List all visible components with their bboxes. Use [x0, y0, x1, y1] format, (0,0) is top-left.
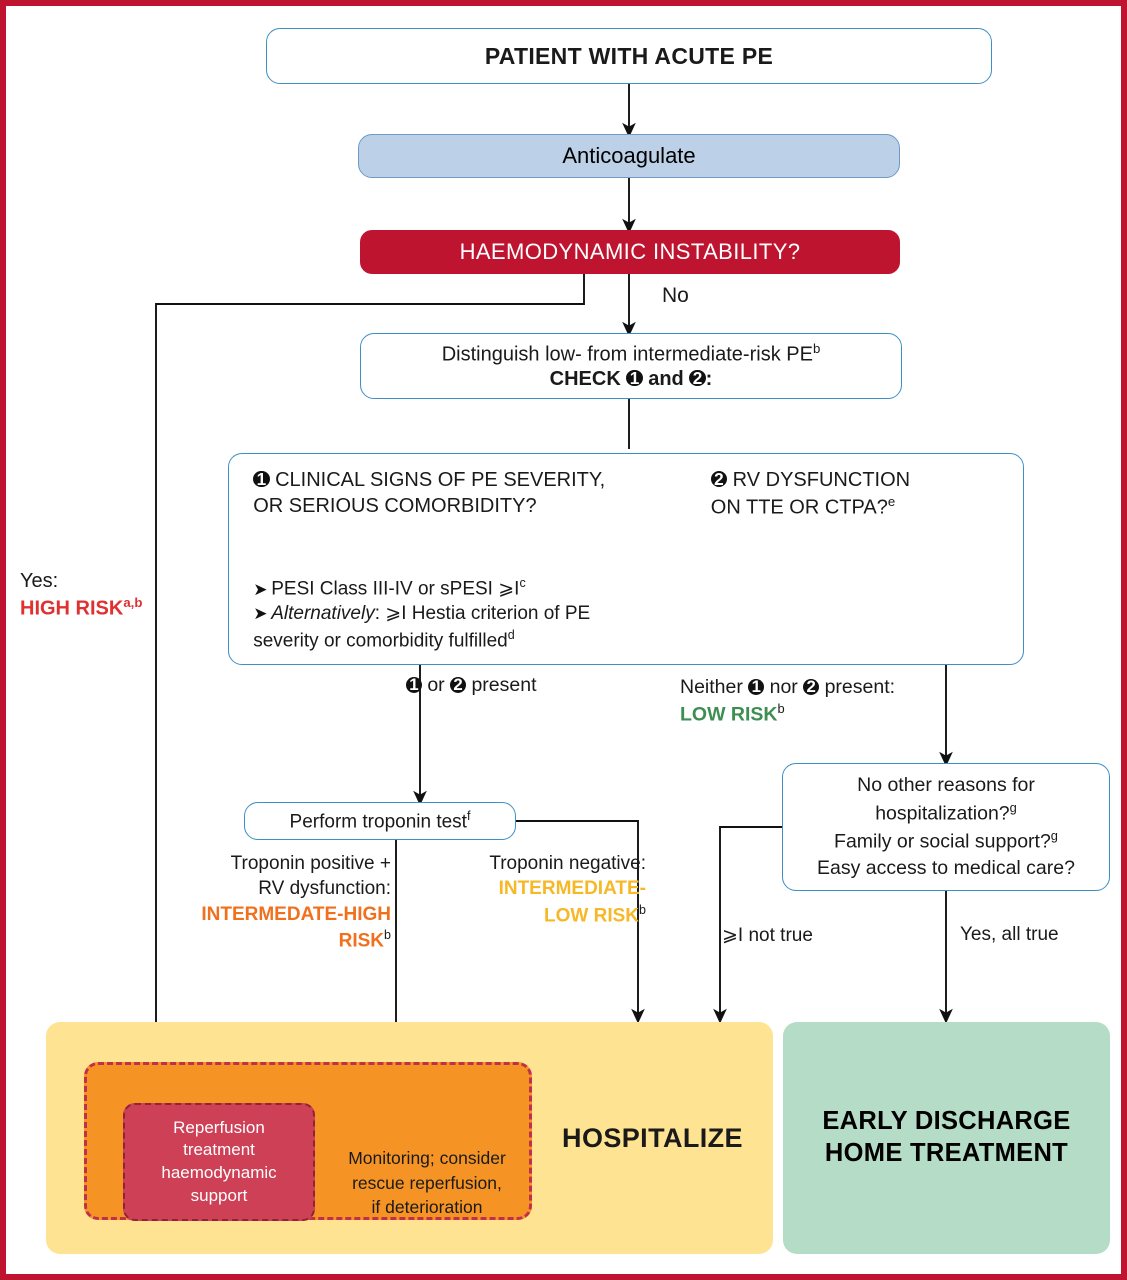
- intermediate-low-risk-label-2: LOW RISKb: [424, 902, 646, 929]
- node-early-discharge: EARLY DISCHARGE HOME TREATMENT: [783, 1022, 1110, 1254]
- patient-label: PATIENT WITH ACUTE PE: [485, 43, 773, 70]
- edge-label-yes-high-risk: Yes: HIGH RISKa,b: [20, 568, 142, 622]
- discharge-check-line-3: Family or social support?g: [834, 827, 1058, 855]
- marker-one-icon: 1: [626, 370, 642, 386]
- criteria-bullet-2: ➤Alternatively: ⩾I Hestia criterion of P…: [253, 602, 705, 627]
- node-hospitalize: Reperfusion treatment haemodynamic suppo…: [46, 1022, 773, 1254]
- node-haemodynamic-instability: HAEMODYNAMIC INSTABILITY?: [360, 230, 900, 274]
- hospitalize-label: HOSPITALIZE: [532, 1022, 773, 1254]
- monitoring-line-3: if deterioration: [348, 1195, 506, 1220]
- reperfusion-line-1: Reperfusion: [161, 1117, 276, 1140]
- edge-label-no: No: [662, 284, 689, 308]
- monitoring-label: Monitoring; consider rescue reperfusion,…: [327, 1113, 527, 1253]
- monitoring-line-1: Monitoring; consider: [348, 1146, 506, 1171]
- edge-label-troponin-positive: Troponin positive + RV dysfunction: INTE…: [186, 851, 391, 953]
- high-risk-label: HIGH RISKa,b: [20, 594, 142, 622]
- node-anticoagulate: Anticoagulate: [358, 134, 900, 178]
- node-patient-with-acute-pe: PATIENT WITH ACUTE PE: [266, 28, 992, 84]
- criteria-bullet-2-cont: severity or comorbidity fulfilledd: [253, 627, 705, 654]
- intermediate-high-risk-label: INTERMEDATE-HIGH: [186, 902, 391, 927]
- node-distinguish-risk: Distinguish low- from intermediate-risk …: [360, 333, 902, 399]
- arrow-bullet-icon: ➤: [253, 603, 271, 625]
- edge-label-neither-present-low-risk: Neither 1 nor 2 present: LOW RISKb: [680, 674, 895, 728]
- early-discharge-line-1: EARLY DISCHARGE: [822, 1106, 1070, 1138]
- node-criteria-checks: 1 CLINICAL SIGNS OF PE SEVERITY, OR SERI…: [228, 453, 1024, 665]
- arrow-bullet-icon: ➤: [253, 579, 271, 601]
- monitoring-line-2: rescue reperfusion,: [348, 1171, 506, 1196]
- marker-two-icon: 2: [711, 471, 727, 487]
- reperfusion-line-2: treatment: [161, 1139, 276, 1162]
- marker-two-icon: 2: [689, 370, 705, 386]
- criteria-column-right: 2 RV DYSFUNCTION ON TTE OR CTPA?e: [711, 468, 999, 521]
- marker-two-icon: 2: [803, 679, 819, 695]
- node-reperfusion-treatment: Reperfusion treatment haemodynamic suppo…: [123, 1103, 315, 1221]
- reperfusion-line-3: haemodynamic: [161, 1162, 276, 1185]
- discharge-check-line-2: hospitalization?g: [875, 799, 1017, 827]
- edge-label-not-true: ⩾I not true: [722, 924, 813, 947]
- yes-label: Yes:: [20, 568, 142, 594]
- distinguish-check-line: CHECK 1 and 2:: [550, 367, 713, 391]
- flowchart-canvas: PATIENT WITH ACUTE PE Anticoagulate HAEM…: [0, 0, 1127, 1280]
- discharge-check-line-4: Easy access to medical care?: [817, 855, 1075, 882]
- distinguish-line-1: Distinguish low- from intermediate-risk …: [442, 341, 821, 367]
- discharge-check-line-1: No other reasons for: [857, 772, 1035, 799]
- marker-two-icon: 2: [450, 677, 466, 693]
- intermediate-low-risk-label: INTERMEDIATE-: [424, 876, 646, 901]
- node-intermediate-risk-group: Reperfusion treatment haemodynamic suppo…: [84, 1062, 532, 1220]
- anticoagulate-label: Anticoagulate: [562, 143, 695, 169]
- edge-label-all-true: Yes, all true: [960, 924, 1059, 946]
- criteria-item-2-heading: 2 RV DYSFUNCTION ON TTE OR CTPA?e: [711, 468, 999, 521]
- criteria-bullet-1: ➤PESI Class III-IV or sPESI ⩾Ic: [253, 575, 705, 602]
- marker-one-icon: 1: [748, 679, 764, 695]
- criteria-column-left: 1 CLINICAL SIGNS OF PE SEVERITY, OR SERI…: [253, 468, 705, 654]
- criteria-bullet-list: ➤PESI Class III-IV or sPESI ⩾Ic ➤Alterna…: [253, 575, 705, 654]
- early-discharge-line-2: HOME TREATMENT: [825, 1138, 1068, 1170]
- low-risk-label: LOW RISKb: [680, 700, 895, 728]
- haemodynamic-label: HAEMODYNAMIC INSTABILITY?: [460, 239, 801, 265]
- marker-one-icon: 1: [406, 677, 422, 693]
- reperfusion-line-4: support: [161, 1185, 276, 1208]
- edge-label-troponin-negative: Troponin negative: INTERMEDIATE- LOW RIS…: [424, 851, 646, 928]
- neither-line: Neither 1 nor 2 present:: [680, 674, 895, 700]
- intermediate-high-risk-label-2: RISKb: [186, 927, 391, 954]
- edge-label-one-or-two-present: 1 or 2 present: [406, 674, 537, 697]
- criteria-item-1-heading: 1 CLINICAL SIGNS OF PE SEVERITY, OR SERI…: [253, 468, 705, 519]
- node-perform-troponin-test: Perform troponin testf: [244, 802, 516, 840]
- node-discharge-eligibility-check: No other reasons for hospitalization?g F…: [782, 763, 1110, 891]
- marker-one-icon: 1: [253, 471, 269, 487]
- troponin-label: Perform troponin testf: [290, 809, 471, 833]
